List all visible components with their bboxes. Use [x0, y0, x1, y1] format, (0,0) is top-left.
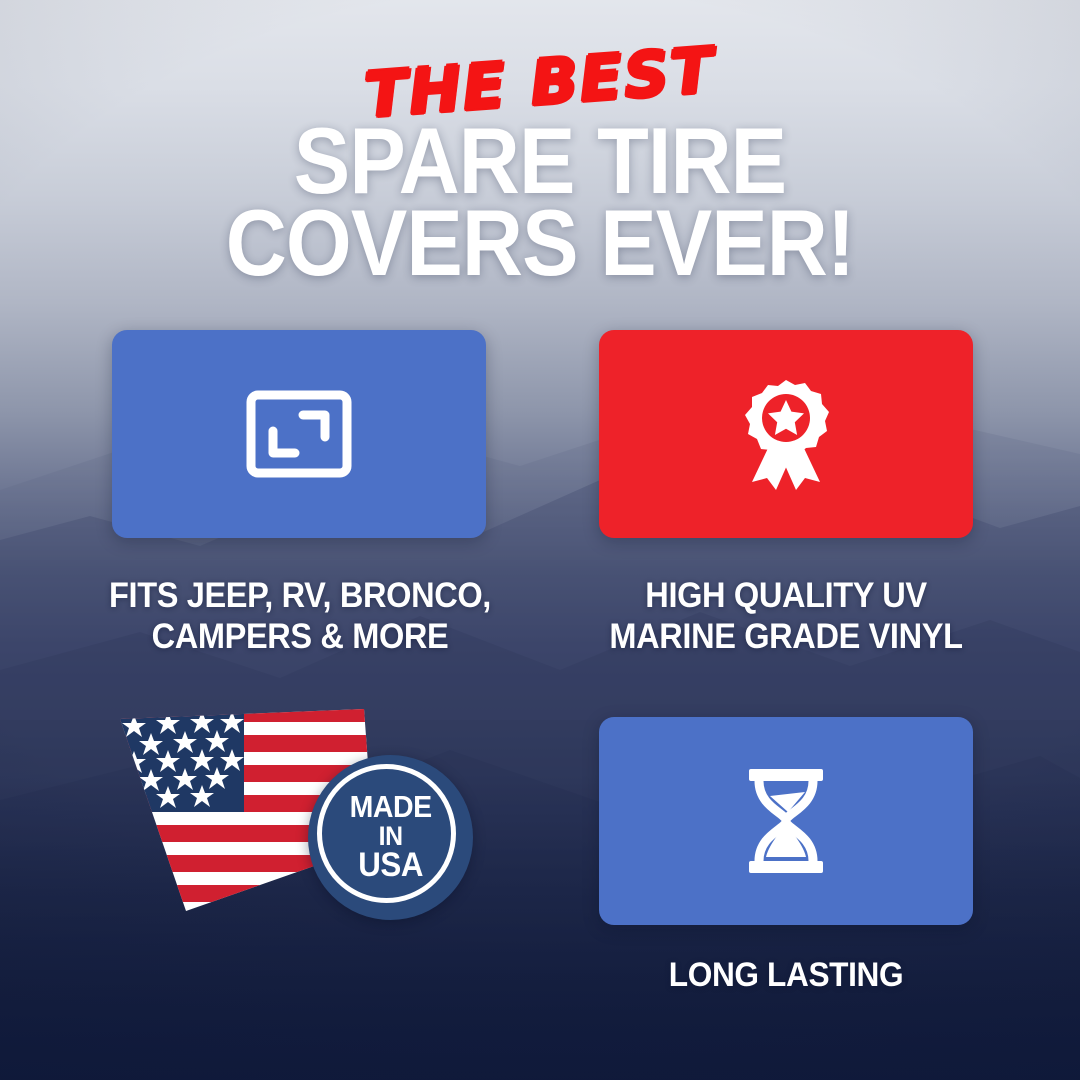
hourglass-icon	[743, 767, 829, 875]
badge-text: MADE IN USA	[349, 792, 431, 883]
made-in-usa-badge: MADE IN USA	[308, 755, 473, 920]
made-in-usa-block: MADE IN USA	[112, 705, 486, 930]
award-ribbon-icon	[734, 378, 838, 490]
headline-line-2: COVERS EVER!	[54, 196, 1026, 290]
badge-line-in: IN	[349, 823, 431, 850]
promo-poster: THE BEST SPARE TIRE COVERS EVER! FITS JE…	[0, 0, 1080, 1080]
feature-caption-long-lasting: LONG LASTING	[613, 955, 959, 995]
caption-line: FITS JEEP, RV, BRONCO,	[77, 575, 523, 616]
feature-card-fits	[112, 330, 486, 538]
resize-frame-icon	[245, 389, 353, 479]
caption-line: HIGH QUALITY UV	[599, 575, 973, 616]
feature-caption-vinyl: HIGH QUALITY UV MARINE GRADE VINYL	[599, 575, 973, 658]
badge-line-made: MADE	[349, 792, 431, 823]
feature-card-long-lasting	[599, 717, 973, 925]
caption-line: LONG LASTING	[613, 955, 959, 995]
caption-line: CAMPERS & MORE	[77, 616, 523, 657]
feature-caption-fits: FITS JEEP, RV, BRONCO, CAMPERS & MORE	[77, 575, 523, 658]
feature-card-vinyl	[599, 330, 973, 538]
caption-line: MARINE GRADE VINYL	[599, 616, 973, 657]
badge-line-usa: USA	[349, 849, 431, 883]
